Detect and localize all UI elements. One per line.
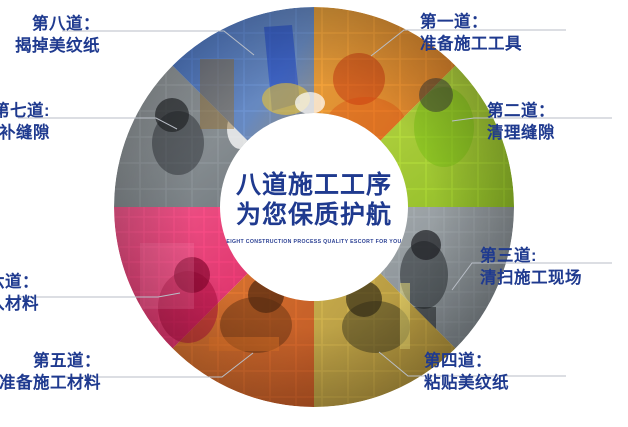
- leader-line-6: [18, 293, 180, 297]
- step-desc-3: 清扫施工现场: [480, 268, 582, 290]
- center-subtitle: EIGHT CONSTRUCTION PROCESS QUALITY ESCOR…: [226, 239, 401, 245]
- step-title-3: 第三道:: [480, 247, 537, 265]
- step-label-4[interactable]: 第四道： 粘贴美纹纸: [424, 351, 509, 395]
- step-title-8: 第八道：: [32, 15, 100, 33]
- infographic-canvas: 八道施工工序 为您保质护航 EIGHT CONSTRUCTION PROCESS…: [0, 0, 628, 427]
- step-desc-4: 粘贴美纹纸: [424, 373, 509, 395]
- center-headline-line1: 八道施工工序: [236, 170, 392, 200]
- step-title-5: 第五道：: [33, 352, 101, 370]
- step-title-2: 第二道：: [487, 102, 555, 120]
- step-title-7: 第七道:: [0, 102, 50, 120]
- step-label-6[interactable]: 第六道： 打入材料: [0, 272, 39, 316]
- step-title-4: 第四道：: [424, 352, 492, 370]
- step-label-7[interactable]: 第七道: 修补缝隙: [0, 101, 50, 145]
- step-desc-7: 修补缝隙: [0, 123, 50, 145]
- step-desc-2: 清理缝隙: [487, 123, 555, 145]
- center-headline-disc: 八道施工工序 为您保质护航 EIGHT CONSTRUCTION PROCESS…: [221, 114, 407, 300]
- step-label-1[interactable]: 第一道： 准备施工工具: [420, 12, 522, 56]
- step-desc-8: 揭掉美纹纸: [15, 36, 100, 58]
- center-headline-line2: 为您保质护航: [236, 200, 392, 230]
- step-label-3[interactable]: 第三道: 清扫施工现场: [480, 246, 582, 290]
- step-desc-6: 打入材料: [0, 294, 39, 316]
- step-label-5[interactable]: 第五道： 准备施工材料: [0, 351, 101, 395]
- step-title-1: 第一道：: [420, 13, 488, 31]
- step-desc-5: 准备施工材料: [0, 373, 101, 395]
- step-desc-1: 准备施工工具: [420, 34, 522, 56]
- step-label-2[interactable]: 第二道： 清理缝隙: [487, 101, 555, 145]
- step-title-6: 第六道：: [0, 273, 39, 291]
- step-label-8[interactable]: 第八道： 揭掉美纹纸: [15, 14, 100, 58]
